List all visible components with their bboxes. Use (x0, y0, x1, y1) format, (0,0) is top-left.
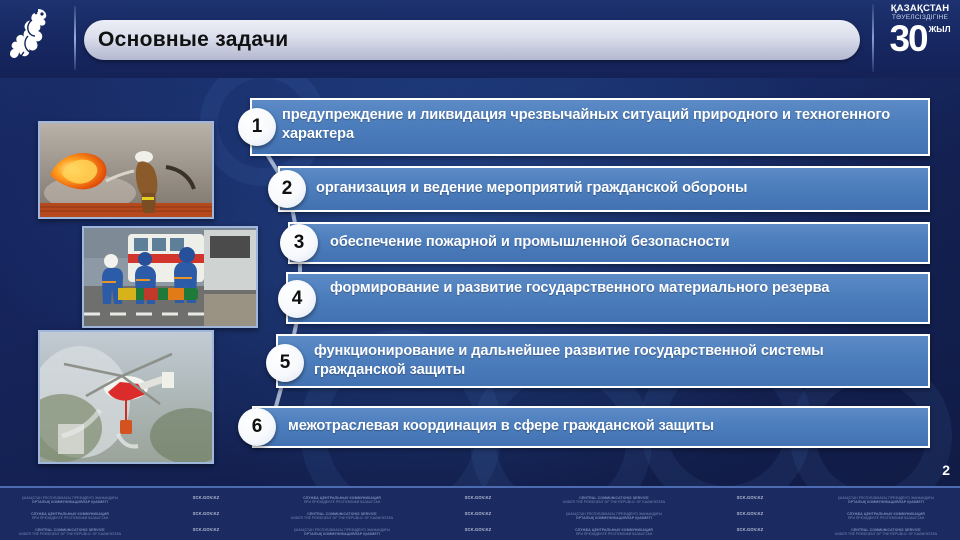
task-number-badge: 1 (238, 108, 276, 146)
task-number-badge: 5 (266, 344, 304, 382)
task-item[interactable]: функционирование и дальнейшее развитие г… (230, 334, 930, 388)
footer-watermark-tiles: ҚАЗАҚСТАН РЕСПУБЛИКАСЫ ПРЕЗИДЕНТІ ЖАНЫНД… (0, 488, 960, 540)
watermark-domain: SCK.GOV.KZ (414, 496, 542, 500)
watermark-org-name: CENTRAL COMMUNICATIONS SERVICEUNDER THE … (6, 528, 134, 537)
page-title: Основные задачи (98, 20, 289, 60)
title-bar: Основные задачи (84, 20, 860, 60)
watermark-org-name: СЛУЖБА ЦЕНТРАЛЬНЫХ КОММУНИКАЦИЙПРИ ПРЕЗИ… (6, 512, 134, 521)
watermark-org-name: ҚАЗАҚСТАН РЕСПУБЛИКАСЫ ПРЕЗИДЕНТІ ЖАНЫНД… (822, 496, 950, 505)
kazakhstan-30-years-logo: ҚАЗАҚСТАН ТӘУЕЛСІЗДІГІНЕ 30 ЖЫЛ (884, 4, 956, 70)
header-divider-right (872, 4, 874, 72)
task-number-badge: 6 (238, 408, 276, 446)
task-item[interactable]: обеспечение пожарной и промышленной безо… (230, 222, 930, 264)
task-text: организация и ведение мероприятий гражда… (316, 179, 916, 198)
logo-line-1: ҚАЗАҚСТАН (884, 4, 956, 14)
task-text: обеспечение пожарной и промышленной безо… (330, 233, 910, 252)
header-divider (74, 6, 76, 70)
task-number-badge: 3 (280, 224, 318, 262)
watermark-domain: SCK.GOV.KZ (686, 528, 814, 532)
watermark-org-name: СЛУЖБА ЦЕНТРАЛЬНЫХ КОММУНИКАЦИЙПРИ ПРЕЗИ… (278, 496, 406, 505)
watermark-org-name: СЛУЖБА ЦЕНТРАЛЬНЫХ КОММУНИКАЦИЙПРИ ПРЕЗИ… (550, 528, 678, 537)
watermark-domain: SCK.GOV.KZ (142, 496, 270, 500)
watermark-org-name: CENTRAL COMMUNICATIONS SERVICEUNDER THE … (822, 528, 950, 537)
watermark-domain: SCK.GOV.KZ (686, 496, 814, 500)
watermark-domain: SCK.GOV.KZ (142, 528, 270, 532)
task-number-badge: 2 (268, 170, 306, 208)
task-text: межотраслевая координация в сфере гражда… (288, 417, 908, 436)
footer-watermark-strip: ҚАЗАҚСТАН РЕСПУБЛИКАСЫ ПРЕЗИДЕНТІ ЖАНЫНД… (0, 486, 960, 540)
logo-number: 30 (889, 23, 926, 54)
task-list: предупреждение и ликвидация чрезвычайных… (230, 98, 930, 468)
task-item[interactable]: формирование и развитие государственного… (230, 272, 930, 324)
task-item[interactable]: межотраслевая координация в сфере гражда… (230, 406, 930, 448)
task-text: предупреждение и ликвидация чрезвычайных… (282, 106, 912, 144)
slide-header: Основные задачи ҚАЗАҚСТАН ТӘУЕЛСІЗДІГІНЕ… (0, 0, 960, 78)
page-number: 2 (942, 462, 950, 478)
photo-firefighting-helicopter (38, 330, 214, 464)
snow-leopard-emblem-icon (8, 4, 64, 74)
task-text: формирование и развитие государственного… (330, 279, 910, 298)
task-text: функционирование и дальнейшее развитие г… (314, 342, 914, 380)
watermark-org-name: CENTRAL COMMUNICATIONS SERVICEUNDER THE … (550, 496, 678, 505)
watermark-domain: SCK.GOV.KZ (142, 512, 270, 516)
watermark-org-name: ҚАЗАҚСТАН РЕСПУБЛИКАСЫ ПРЕЗИДЕНТІ ЖАНЫНД… (550, 512, 678, 521)
task-item[interactable]: организация и ведение мероприятий гражда… (230, 166, 930, 212)
watermark-org-name: CENTRAL COMMUNICATIONS SERVICEUNDER THE … (278, 512, 406, 521)
logo-suffix: ЖЫЛ (929, 24, 951, 34)
watermark-domain: SCK.GOV.KZ (414, 512, 542, 516)
watermark-org-name: ҚАЗАҚСТАН РЕСПУБЛИКАСЫ ПРЕЗИДЕНТІ ЖАНЫНД… (278, 528, 406, 537)
watermark-org-name: СЛУЖБА ЦЕНТРАЛЬНЫХ КОММУНИКАЦИЙПРИ ПРЕЗИ… (822, 512, 950, 521)
watermark-domain: SCK.GOV.KZ (414, 528, 542, 532)
slide-canvas: Основные задачи ҚАЗАҚСТАН ТӘУЕЛСІЗДІГІНЕ… (0, 0, 960, 540)
watermark-domain: SCK.GOV.KZ (686, 512, 814, 516)
photo-firefighter-extinguishing-blaze (38, 121, 214, 219)
watermark-org-name: ҚАЗАҚСТАН РЕСПУБЛИКАСЫ ПРЕЗИДЕНТІ ЖАНЫНД… (6, 496, 134, 505)
task-number-badge: 4 (278, 280, 316, 318)
task-item[interactable]: предупреждение и ликвидация чрезвычайных… (230, 98, 930, 156)
